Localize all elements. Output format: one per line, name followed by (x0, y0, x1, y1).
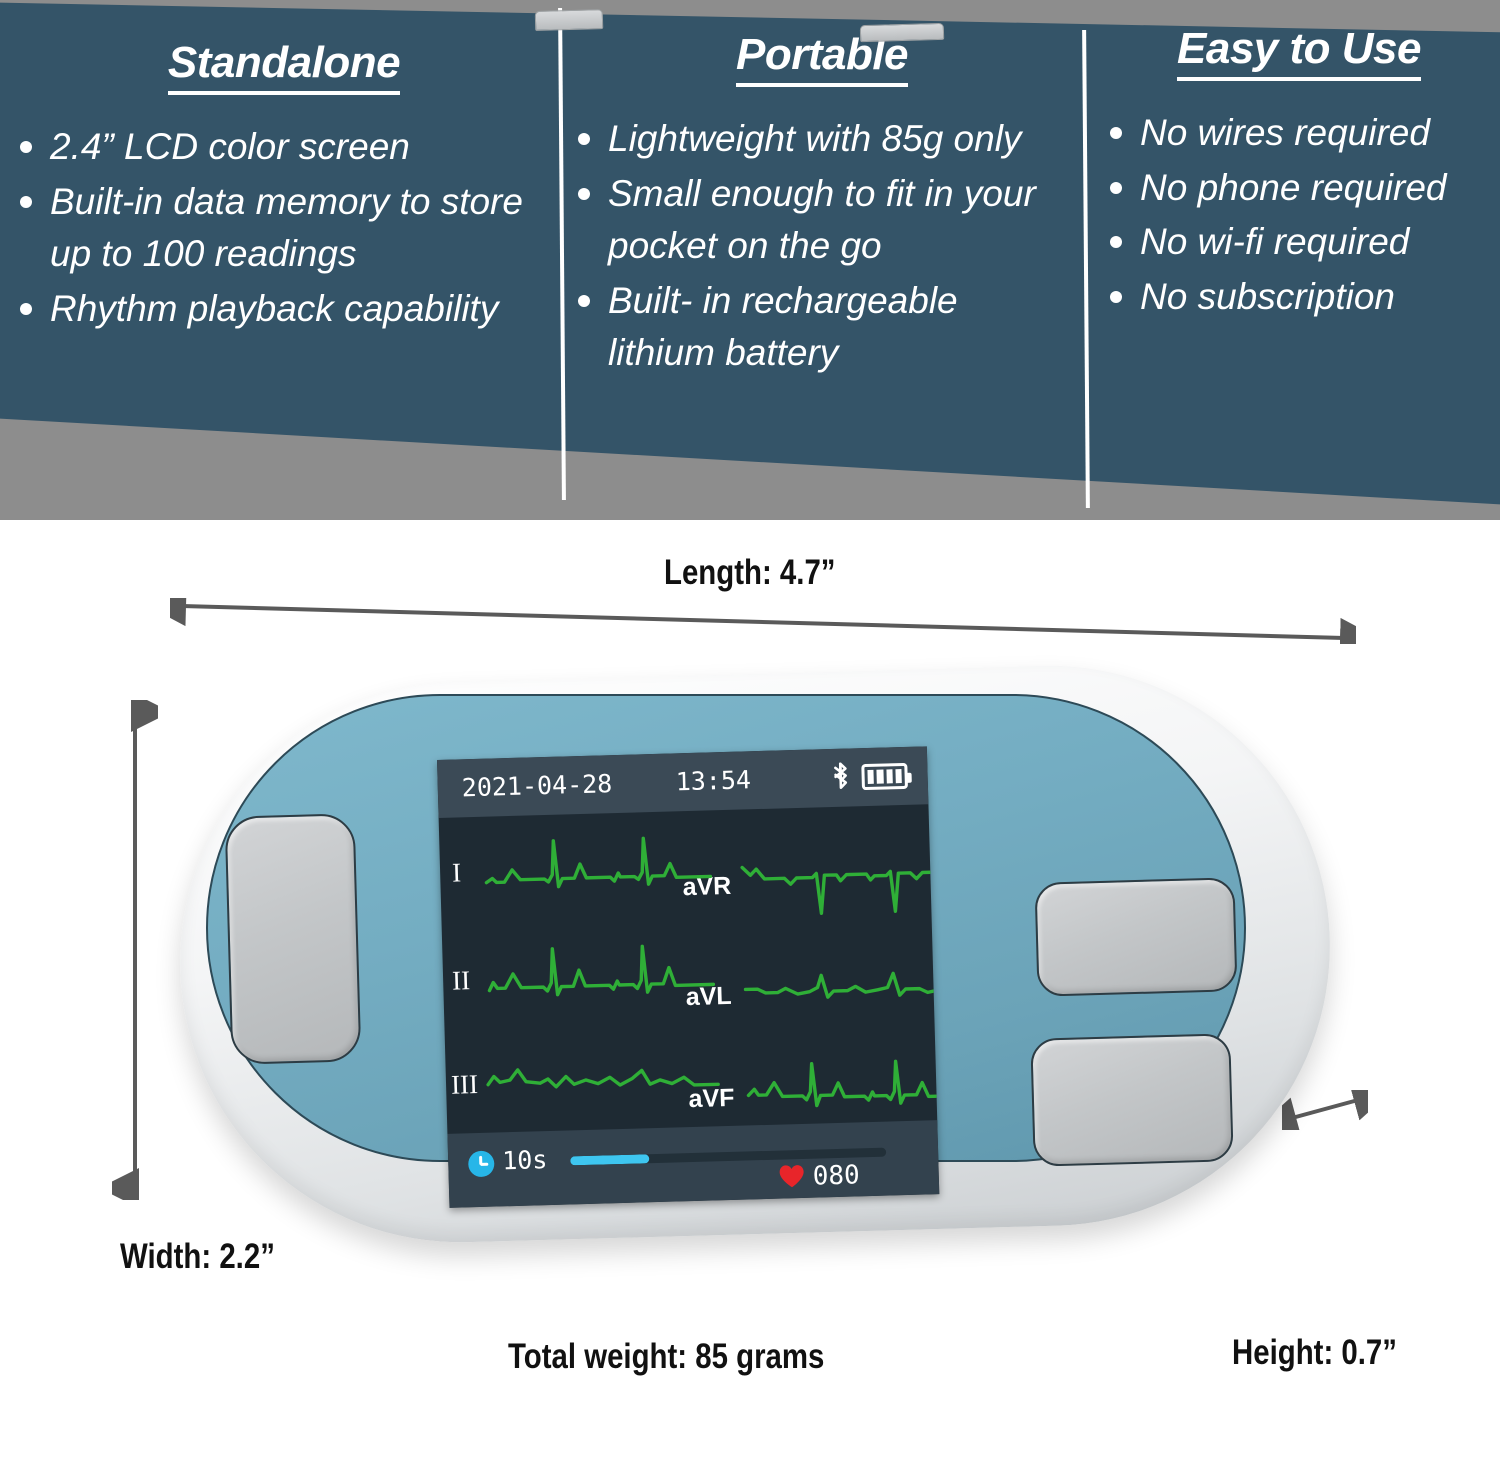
screen-footer-bar: 10s 080 (447, 1120, 939, 1208)
list-item: No wi-fi required (1104, 216, 1494, 269)
height-label: Height: 0.7” (1232, 1333, 1397, 1373)
list-item: No phone required (1104, 162, 1494, 215)
recording-duration: 10s (502, 1145, 548, 1175)
ecg-waveform-area: I II III aVR aVL aVF (439, 804, 938, 1138)
list-item: Built-in data memory to store up to 100 … (14, 176, 554, 281)
list-item: No subscription (1104, 271, 1494, 324)
weight-label: Total weight: 85 grams (508, 1337, 824, 1377)
column-title-portable: Portable (572, 30, 1072, 87)
electrode-right-top[interactable] (1034, 877, 1237, 997)
heart-icon (778, 1164, 805, 1189)
clock-icon (468, 1151, 495, 1178)
battery-full-icon (861, 763, 908, 790)
feature-header-band: Standalone 2.4” LCD color screen Built-i… (0, 0, 1500, 520)
ecg-trace-aVL (743, 962, 939, 1029)
ecg-trace-I (483, 830, 713, 906)
lead-label-II: II (452, 965, 471, 996)
lead-label-III: III (451, 1069, 479, 1101)
top-button-left[interactable] (535, 9, 604, 31)
electrode-left[interactable] (225, 813, 362, 1065)
list-item: Built- in rechargeable lithium battery (572, 275, 1072, 380)
heart-rate-value: 080 (812, 1160, 860, 1191)
feature-list-standalone: 2.4” LCD color screen Built-in data memo… (14, 121, 554, 335)
ecg-trace-III (485, 1044, 721, 1113)
feature-list-easy-to-use: No wires required No phone required No w… (1104, 107, 1494, 323)
length-dimension-arrow (170, 598, 1356, 644)
list-item: Small enough to fit in your pocket on th… (572, 168, 1072, 273)
ecg-trace-aVR (740, 848, 938, 925)
ecg-trace-aVF (745, 1054, 939, 1129)
bluetooth-icon (829, 760, 852, 797)
lcd-screen: 2021-04-28 13:54 I II III aVR aVL aVF (437, 746, 939, 1208)
recording-progress-fill (570, 1154, 649, 1165)
top-button-right[interactable] (860, 23, 944, 42)
status-time: 13:54 (675, 765, 751, 796)
feature-column-portable: Portable Lightweight with 85g only Small… (572, 30, 1072, 382)
feature-column-standalone: Standalone 2.4” LCD color screen Built-i… (14, 38, 554, 337)
ecg-trace-II (486, 936, 716, 1012)
list-item: 2.4” LCD color screen (14, 121, 554, 174)
column-title-standalone: Standalone (14, 38, 554, 95)
electrode-right-bottom[interactable] (1030, 1033, 1233, 1167)
status-date: 2021-04-28 (461, 769, 612, 802)
feature-list-portable: Lightweight with 85g only Small enough t… (572, 113, 1072, 380)
list-item: Rhythm playback capability (14, 283, 554, 336)
column-title-easy-to-use: Easy to Use (1104, 24, 1494, 81)
list-item: Lightweight with 85g only (572, 113, 1072, 166)
length-label: Length: 4.7” (664, 553, 836, 593)
list-item: No wires required (1104, 107, 1494, 160)
lead-label-I: I (452, 857, 462, 888)
feature-column-easy-to-use: Easy to Use No wires required No phone r… (1104, 24, 1494, 325)
